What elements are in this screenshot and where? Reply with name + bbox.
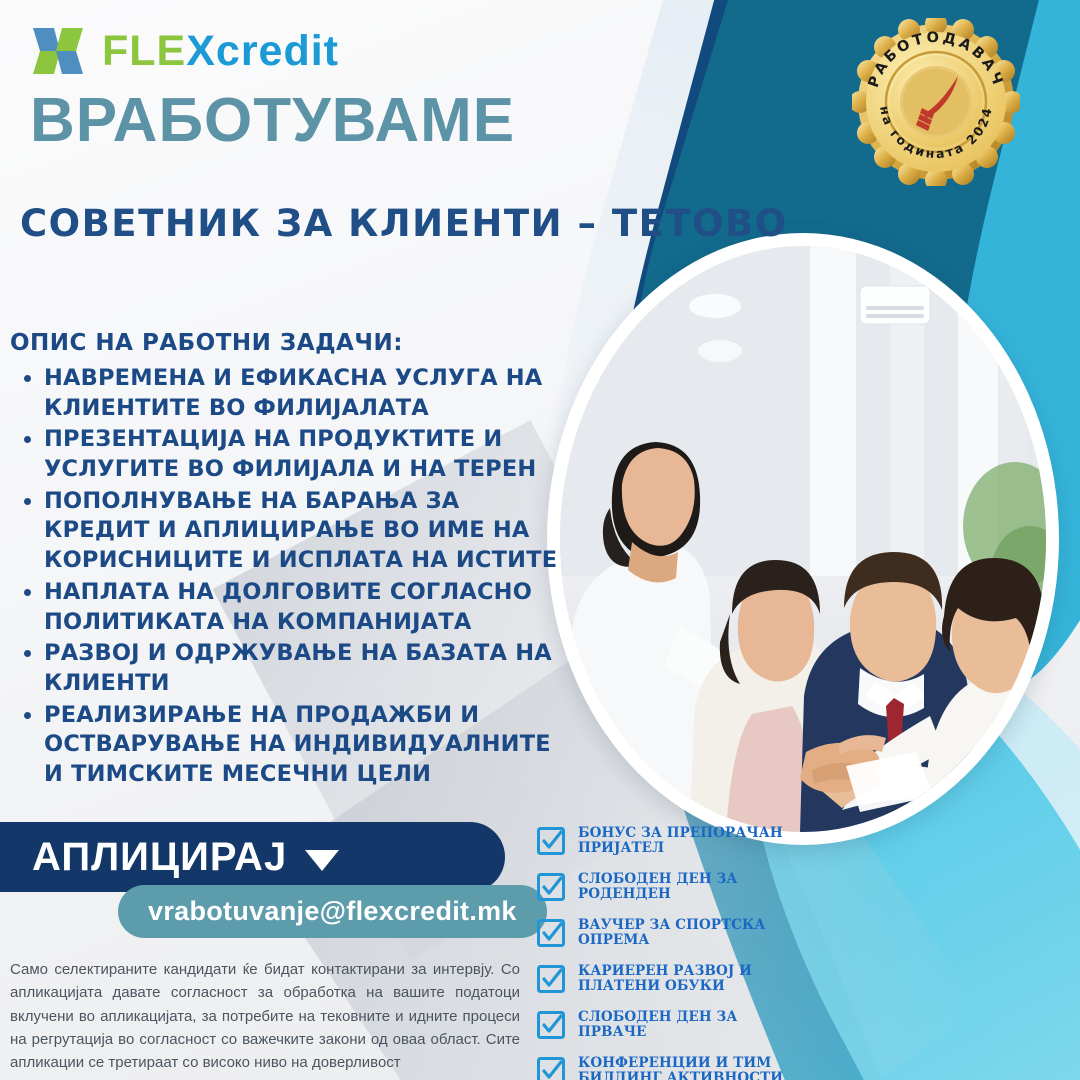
email-address[interactable]: vrabotuvanje@flexcredit.mk [118,885,547,938]
list-item: ВАУЧЕР ЗА СПОРТСКА ОПРЕМА [536,916,806,949]
business-handshake-photo [560,246,1046,832]
employer-of-the-year-seal-icon: РАБОТОДАВАЧ на годината 2024 [852,18,1020,186]
list-item: НАВРЕМЕНА И ЕФИКАСНА УСЛУГА НА КЛИЕНТИТЕ… [44,364,570,423]
job-ad-poster: FLEXcredit ВРАБОТУВАМЕ СОВЕТНИК ЗА КЛИЕН… [0,0,1080,1080]
brand-word-x: X [186,27,216,75]
checkbox-checked-icon [536,872,566,902]
checkbox-checked-icon [536,1056,566,1080]
list-item: ПОПОЛНУВАЊЕ НА БАРАЊА ЗА КРЕДИТ И АПЛИЦИ… [44,487,570,576]
page-title: ВРАБОТУВАМЕ [30,90,515,152]
brand-wordmark: FLEXcredit [102,30,339,73]
job-title: СОВЕТНИК ЗА КЛИЕНТИ – ТЕТОВО [20,205,788,242]
benefit-label: КОНФЕРЕНЦИИ И ТИМ БИЛДИНГ АКТИВНОСТИ [578,1056,806,1080]
apply-button[interactable]: АПЛИЦИРАЈ [0,822,505,892]
brand-logo[interactable]: FLEXcredit [30,22,339,80]
brand-word-flex: FLE [102,27,186,75]
list-item: СЛОБОДЕН ДЕН ЗА РОДЕНДЕН [536,870,806,903]
list-item: КОНФЕРЕНЦИИ И ТИМ БИЛДИНГ АКТИВНОСТИ [536,1054,806,1080]
flex-x-logo-icon [30,22,86,80]
apply-label-wrap: АПЛИЦИРАЈ [32,835,339,880]
duties-list: НАВРЕМЕНА И ЕФИКАСНА УСЛУГА НА КЛИЕНТИТЕ… [10,364,570,790]
list-item: КАРИЕРЕН РАЗВОЈ И ПЛАТЕНИ ОБУКИ [536,962,806,995]
list-item: СЛОБОДЕН ДЕН ЗА ПРВАЧЕ [536,1008,806,1041]
benefit-label: ВАУЧЕР ЗА СПОРТСКА ОПРЕМА [578,918,806,947]
benefit-label: БОНУС ЗА ПРЕПОРАЧАН ПРИЈАТЕЛ [578,826,806,855]
caret-down-icon [305,850,339,871]
list-item: РЕАЛИЗИРАЊЕ НА ПРОДАЖБИ И ОСТВАРУВАЊЕ НА… [44,701,570,790]
list-item: БОНУС ЗА ПРЕПОРАЧАН ПРИЈАТЕЛ [536,824,806,857]
list-item: ПРЕЗЕНТАЦИЈА НА ПРОДУКТИТЕ И УСЛУГИТЕ ВО… [44,425,570,484]
disclaimer-text: Само селектираните кандидати ќе бидат ко… [10,958,520,1074]
apply-label: АПЛИЦИРАЈ [32,835,287,880]
benefit-label: КАРИЕРЕН РАЗВОЈ И ПЛАТЕНИ ОБУКИ [578,964,806,993]
checkbox-checked-icon [536,964,566,994]
brand-word-credit: credit [216,27,339,75]
list-item: РАЗВОЈ И ОДРЖУВАЊЕ НА БАЗАТА НА КЛИЕНТИ [44,639,570,698]
checkbox-checked-icon [536,1010,566,1040]
duties-heading: ОПИС НА РАБОТНИ ЗАДАЧИ: [10,330,570,356]
benefit-label: СЛОБОДЕН ДЕН ЗА РОДЕНДЕН [578,872,806,901]
checkbox-checked-icon [536,918,566,948]
benefit-label: СЛОБОДЕН ДЕН ЗА ПРВАЧЕ [578,1010,806,1039]
duties-section: ОПИС НА РАБОТНИ ЗАДАЧИ: НАВРЕМЕНА И ЕФИК… [10,330,570,792]
benefits-list: БОНУС ЗА ПРЕПОРАЧАН ПРИЈАТЕЛ СЛОБОДЕН ДЕ… [536,824,806,1080]
checkbox-checked-icon [536,826,566,856]
list-item: НАПЛАТА НА ДОЛГОВИТЕ СОГЛАСНО ПОЛИТИКАТА… [44,578,570,637]
